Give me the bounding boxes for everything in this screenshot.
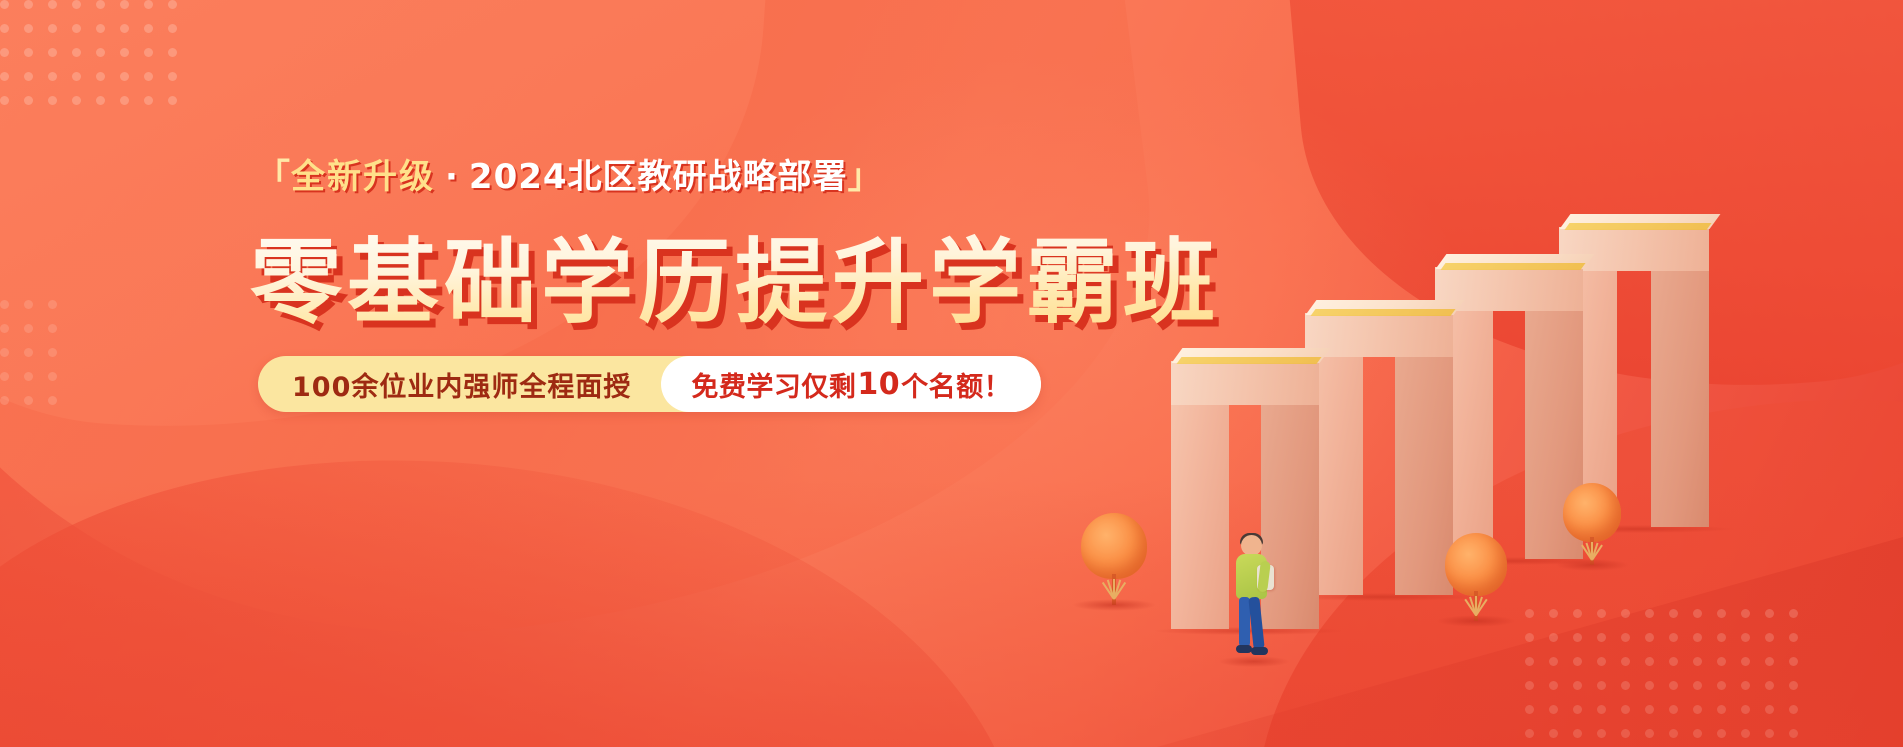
tree-crown bbox=[1081, 513, 1147, 579]
arch-lintel bbox=[1171, 361, 1319, 405]
arch-lintel-edge bbox=[1176, 357, 1321, 364]
student-figure bbox=[1229, 535, 1275, 659]
course-illustration bbox=[1083, 0, 1903, 747]
tree-left bbox=[1081, 513, 1147, 605]
arch-lintel-edge bbox=[1564, 223, 1711, 230]
promo-banner: 「全新升级·2024北区教研战略部署」 零基础学历提升学霸班 100余位业内强师… bbox=[0, 0, 1903, 747]
banner-badge[interactable]: 100余位业内强师全程面授 免费学习仅剩10个名额！ bbox=[258, 356, 1041, 412]
book-arch-2 bbox=[1305, 313, 1453, 595]
subtitle-gold-text: 全新升级 bbox=[291, 157, 435, 197]
tree-right bbox=[1563, 483, 1621, 565]
tree-crown bbox=[1445, 533, 1507, 596]
tree-shadow bbox=[1436, 615, 1515, 627]
banner-subtitle: 「全新升级·2024北区教研战略部署」 bbox=[256, 160, 883, 194]
tree-shadow bbox=[1072, 599, 1156, 611]
subtitle-bracket-close: 」 bbox=[848, 157, 883, 197]
arch-pillar-left bbox=[1171, 405, 1229, 629]
badge-right-suffix: 个名额！ bbox=[901, 365, 1011, 404]
tree-mid bbox=[1445, 533, 1507, 621]
subtitle-bracket-open: 「 bbox=[256, 157, 291, 197]
arch-lintel-edge bbox=[1440, 263, 1585, 270]
figure-shoe-right bbox=[1251, 647, 1268, 655]
banner-headline: 零基础学历提升学霸班 bbox=[250, 232, 1220, 333]
banner-content: 「全新升级·2024北区教研战略部署」 零基础学历提升学霸班 100余位业内强师… bbox=[0, 0, 1100, 747]
figure-head bbox=[1241, 535, 1262, 556]
subtitle-separator: · bbox=[435, 157, 469, 197]
subtitle-white-text: 2024北区教研战略部署 bbox=[469, 157, 848, 197]
figure-shadow bbox=[1219, 656, 1289, 667]
tree-crown bbox=[1563, 483, 1621, 542]
tree-shadow bbox=[1555, 559, 1629, 571]
badge-right-segment: 免费学习仅剩10个名额！ bbox=[661, 356, 1041, 412]
arch-pillar-right bbox=[1651, 271, 1709, 527]
badge-left-segment: 100余位业内强师全程面授 bbox=[258, 356, 661, 412]
figure-leg-right bbox=[1248, 597, 1264, 650]
badge-seat-count: 10 bbox=[856, 367, 901, 402]
arch-lintel-edge bbox=[1310, 309, 1455, 316]
figure-shoe-left bbox=[1236, 645, 1252, 653]
book-arch-3 bbox=[1435, 267, 1583, 559]
badge-right-prefix: 免费学习仅剩 bbox=[691, 365, 856, 404]
